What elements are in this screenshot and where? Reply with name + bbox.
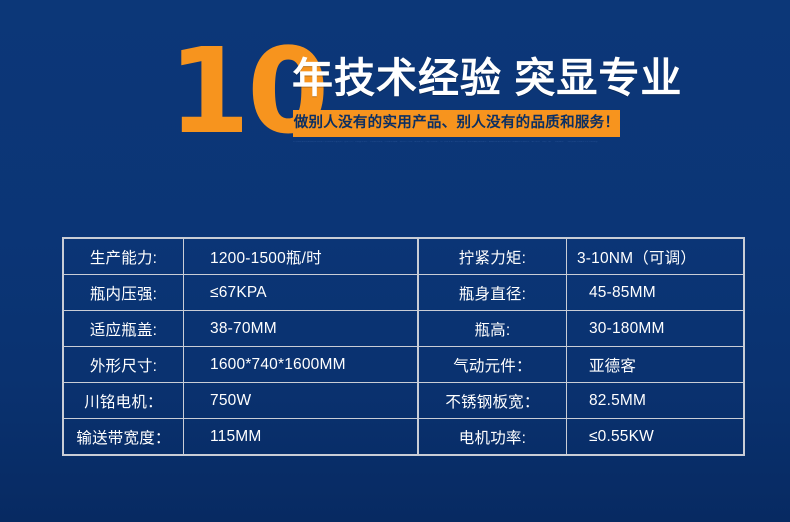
fine-print-text: 公司拥有多名高素质的技术研发人员和经验丰富的生产管理人员，以质量求生存，以信誉求… [293, 141, 620, 158]
spec-pair-left: 川铭电机：750W [64, 383, 419, 418]
spec-pair-right: 拧紧力矩:3-10NM（可调） [419, 239, 743, 274]
spec-value: 45-85MM [567, 275, 742, 310]
spec-row: 外形尺寸:1600*740*1600MM气动元件：亚德客 [64, 347, 743, 383]
spec-pair-left: 生产能力:1200-1500瓶/时 [64, 239, 419, 274]
spec-label: 瓶内压强: [64, 275, 184, 310]
banner-header: 10 年技术经验 突显专业 做别人没有的实用产品、别人没有的品质和服务！ 公司拥… [0, 0, 790, 200]
spec-pair-right: 气动元件：亚德客 [419, 347, 743, 382]
subtitle-text: 做别人没有的实用产品、别人没有的品质和服务！ [293, 110, 620, 137]
spec-pair-right: 瓶高:30-180MM [419, 311, 743, 346]
spec-value: 82.5MM [567, 383, 742, 418]
spec-value: 1200-1500瓶/时 [184, 239, 416, 274]
spec-value: 115MM [184, 419, 416, 454]
spec-row: 输送带宽度：115MM电机功率:≤0.55KW [64, 419, 743, 454]
spec-pair-left: 瓶内压强:≤67KPA [64, 275, 419, 310]
spec-label: 电机功率: [419, 419, 567, 454]
spec-value: 1600*740*1600MM [184, 347, 416, 382]
spec-label: 输送带宽度： [64, 419, 184, 454]
headline-text: 年技术经验 突显专业 [292, 54, 682, 102]
spec-label: 川铭电机： [64, 383, 184, 418]
spec-label: 瓶身直径: [419, 275, 567, 310]
spec-label: 适应瓶盖: [64, 311, 184, 346]
promo-spec-banner: 10 年技术经验 突显专业 做别人没有的实用产品、别人没有的品质和服务！ 公司拥… [0, 0, 790, 522]
spec-label: 不锈钢板宽： [419, 383, 567, 418]
specification-table: 生产能力:1200-1500瓶/时拧紧力矩:3-10NM（可调）瓶内压强:≤67… [62, 237, 745, 456]
spec-label: 生产能力: [64, 239, 184, 274]
spec-label: 瓶高: [419, 311, 567, 346]
spec-value: 30-180MM [567, 311, 742, 346]
subtitle-bar: 做别人没有的实用产品、别人没有的品质和服务！ [293, 110, 620, 137]
spec-pair-right: 不锈钢板宽：82.5MM [419, 383, 743, 418]
spec-row: 川铭电机：750W不锈钢板宽：82.5MM [64, 383, 743, 419]
spec-row: 生产能力:1200-1500瓶/时拧紧力矩:3-10NM（可调） [64, 239, 743, 275]
spec-pair-left: 输送带宽度：115MM [64, 419, 419, 454]
spec-value: ≤0.55KW [567, 419, 742, 454]
spec-label: 拧紧力矩: [419, 239, 567, 274]
spec-pair-right: 电机功率:≤0.55KW [419, 419, 743, 454]
spec-pair-left: 外形尺寸:1600*740*1600MM [64, 347, 419, 382]
spec-row: 瓶内压强:≤67KPA瓶身直径:45-85MM [64, 275, 743, 311]
spec-label: 气动元件： [419, 347, 567, 382]
spec-value: 750W [184, 383, 416, 418]
spec-value: 亚德客 [567, 347, 742, 382]
spec-label: 外形尺寸: [64, 347, 184, 382]
spec-value: 38-70MM [184, 311, 416, 346]
spec-pair-left: 适应瓶盖:38-70MM [64, 311, 419, 346]
spec-row: 适应瓶盖:38-70MM瓶高:30-180MM [64, 311, 743, 347]
spec-value: ≤67KPA [184, 275, 416, 310]
spec-pair-right: 瓶身直径:45-85MM [419, 275, 743, 310]
spec-value: 3-10NM（可调） [567, 239, 742, 274]
